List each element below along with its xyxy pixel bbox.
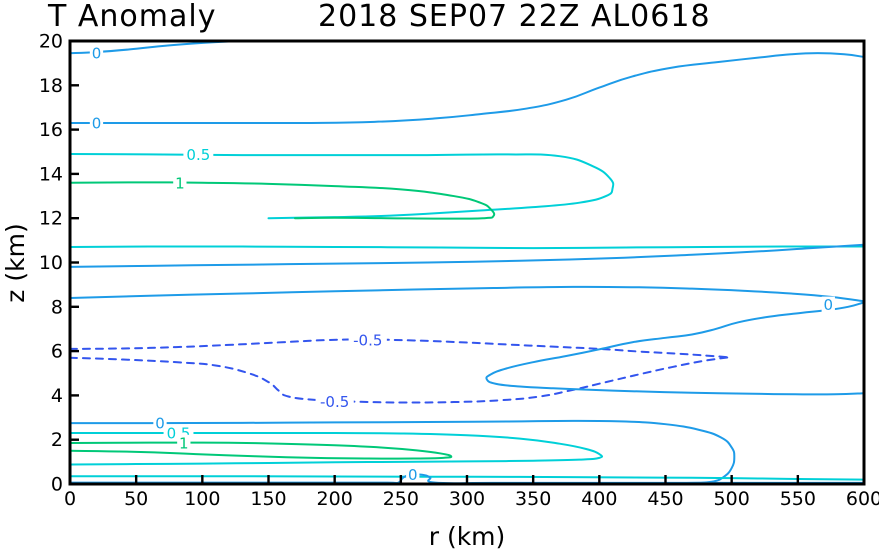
- contour-label-0: 0: [155, 414, 165, 432]
- contour-line-zero-right-tongue-upper: [486, 302, 864, 394]
- y-axis-ticks: 02468101214161820: [39, 31, 79, 496]
- contour-line-neg-half-lower-lens: [70, 357, 729, 402]
- title-group: T Anomaly 2018 SEP07 22Z AL0618: [47, 0, 711, 34]
- y-tick-label: 16: [39, 119, 63, 141]
- x-tick-label: 100: [184, 488, 220, 510]
- x-tick-label: 550: [780, 488, 816, 510]
- x-tick-label: 500: [714, 488, 750, 510]
- y-tick-label: 4: [51, 385, 63, 407]
- contour-line-half-lower-10.7km: [70, 246, 864, 248]
- contour-label-1: 1: [175, 175, 185, 193]
- x-axis-ticks: 050100150200250300350400450500550600: [64, 475, 879, 510]
- contour-line-half-lower-2.3km: [70, 433, 602, 464]
- y-tick-label: 14: [39, 163, 63, 185]
- x-tick-label: 150: [250, 488, 286, 510]
- x-tick-label: 600: [846, 488, 879, 510]
- y-tick-label: 2: [51, 429, 63, 451]
- x-tick-label: 450: [647, 488, 683, 510]
- contour-label-0: 0: [92, 114, 102, 132]
- plot-title-left: T Anomaly: [47, 0, 216, 34]
- contour-lines-group: [70, 41, 864, 484]
- x-tick-label: 50: [124, 488, 148, 510]
- x-axis-label: r (km): [429, 522, 506, 551]
- contour-label--0.5: -0.5: [353, 332, 382, 350]
- y-tick-label: 0: [51, 474, 63, 496]
- x-tick-label: 400: [581, 488, 617, 510]
- contour-plot-figure: T Anomaly 2018 SEP07 22Z AL0618 000.51-0…: [0, 0, 879, 559]
- x-tick-label: 0: [64, 488, 76, 510]
- x-tick-label: 300: [449, 488, 485, 510]
- y-tick-label: 18: [39, 75, 63, 97]
- x-tick-label: 250: [383, 488, 419, 510]
- y-axis-label: z (km): [1, 223, 30, 302]
- x-tick-label: 200: [317, 488, 353, 510]
- y-tick-label: 6: [51, 341, 63, 363]
- plot-canvas: T Anomaly 2018 SEP07 22Z AL0618 000.51-0…: [0, 0, 879, 559]
- y-tick-label: 8: [51, 296, 63, 318]
- contour-line-zero-8.4km: [70, 287, 864, 301]
- contour-label-0.5: 0.5: [186, 146, 210, 164]
- contour-line-zero-16km-sloping: [70, 53, 864, 123]
- y-tick-label: 20: [39, 31, 63, 53]
- contour-label-0: 0: [823, 296, 833, 314]
- contour-label-1: 1: [179, 434, 189, 452]
- x-tick-label: 350: [515, 488, 551, 510]
- contour-label-0: 0: [92, 45, 102, 63]
- y-tick-label: 12: [39, 208, 63, 230]
- plot-title-right: 2018 SEP07 22Z AL0618: [318, 0, 711, 34]
- contour-label--0.5: -0.5: [320, 393, 349, 411]
- contour-label-0: 0: [408, 466, 418, 484]
- contour-line-one-lower-1.85km: [70, 443, 451, 459]
- y-tick-label: 10: [39, 252, 63, 274]
